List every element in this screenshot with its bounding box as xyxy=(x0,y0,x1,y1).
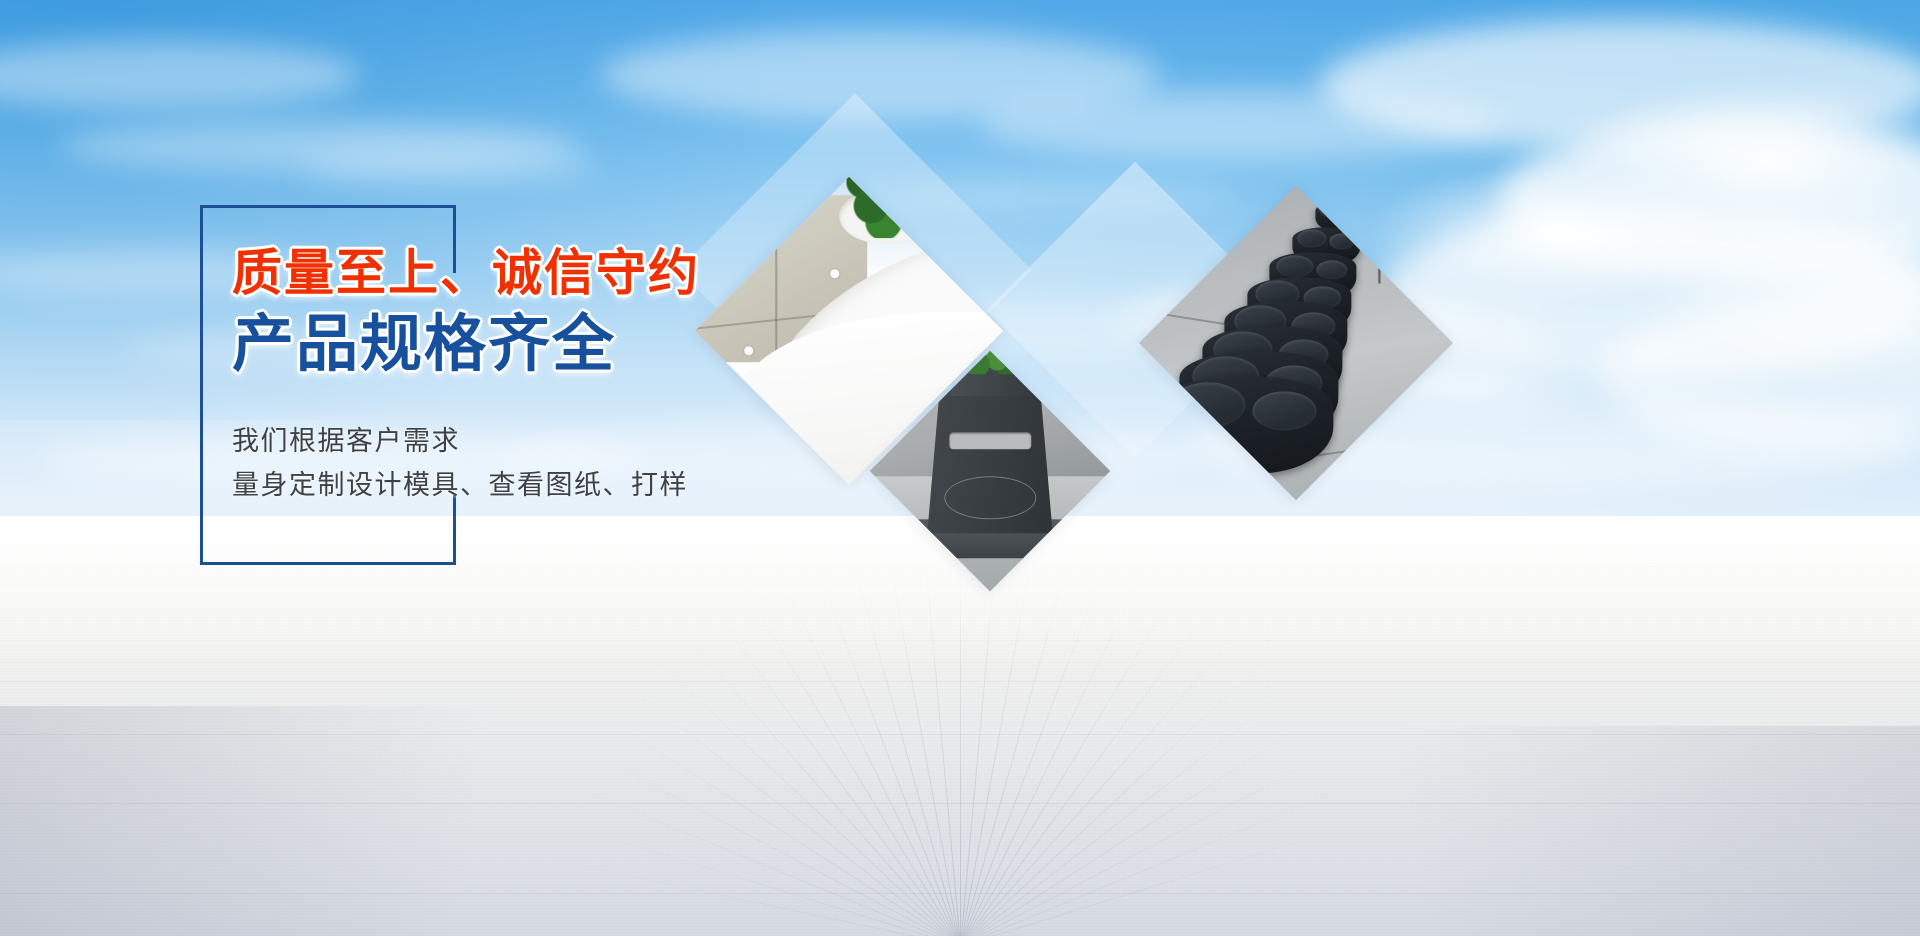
banner-text-block: 质量至上、诚信守约 产品规格齐全 我们根据客户需求 量身定制设计模具、查看图纸、… xyxy=(232,248,872,507)
hero-banner: 质量至上、诚信守约 产品规格齐全 我们根据客户需求 量身定制设计模具、查看图纸、… xyxy=(0,0,1920,936)
headline-secondary-blue: 产品规格齐全 xyxy=(232,314,872,376)
subtitle-line-2: 量身定制设计模具、查看图纸、打样 xyxy=(232,464,872,508)
ground-plaza xyxy=(0,516,1920,936)
subtitle-line-1: 我们根据客户需求 xyxy=(232,420,872,464)
headline-primary-red: 质量至上、诚信守约 xyxy=(232,248,872,298)
